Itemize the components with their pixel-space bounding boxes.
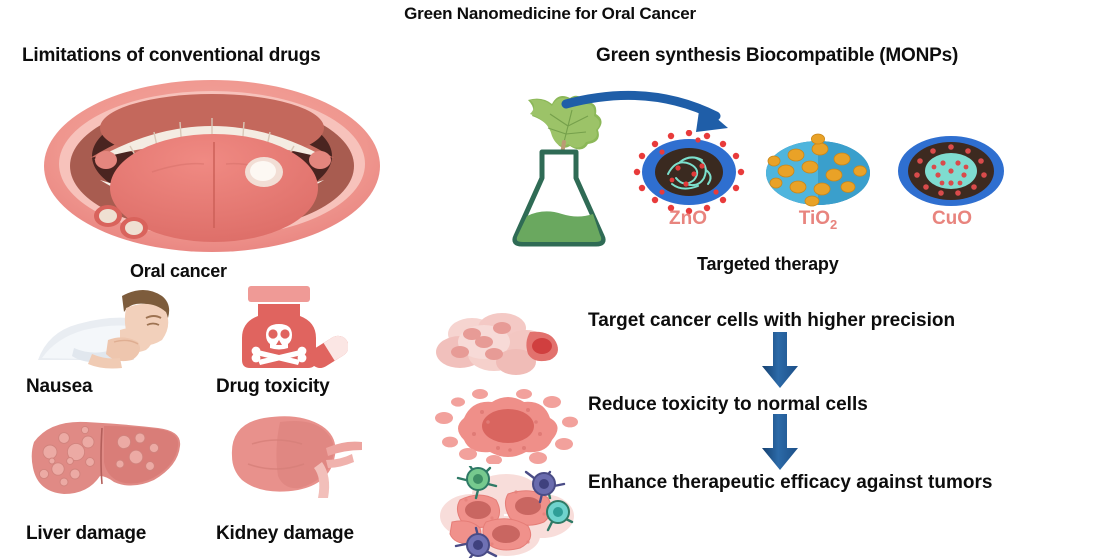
side-effect-label-liver: Liver damage [26,523,146,545]
tumor-cell-cluster-icon [430,312,580,378]
side-effect-label-toxicity: Drug toxicity [216,376,330,398]
oral-cancer-caption: Oral cancer [130,261,227,282]
right-panel-heading: Green synthesis Biocompatible (MONPs) [596,45,958,67]
down-arrow-icon [760,414,800,472]
nanoparticle-label-tio2: TiO2 [768,208,868,232]
page-title: Green Nanomedicine for Oral Cancer [0,4,1100,24]
poison-bottle-icon [228,284,348,374]
single-tumor-cell-icon [428,388,583,464]
nanoparticle-label-zno: ZnO [638,208,738,230]
side-effect-label-kidney: Kidney damage [216,523,354,545]
left-panel-heading: Limitations of conventional drugs [22,45,320,67]
down-arrow-icon [760,332,800,390]
flow-step-text-1: Reduce toxicity to normal cells [588,394,868,416]
flow-step-text-0: Target cancer cells with higher precisio… [588,310,955,332]
tio2-nanoparticle-icon [760,133,876,209]
flow-step-text-2: Enhance therapeutic efficacy against tum… [588,472,992,494]
nauseated-person-icon [34,284,184,372]
nanoparticle-label-cuo: CuO [902,208,1002,230]
graphical-abstract: Green Nanomedicine for Oral Cancer Limit… [0,0,1100,560]
cuo-nanoparticle-icon [896,133,1006,209]
zno-nanoparticle-icon [628,130,750,214]
side-effect-label-nausea: Nausea [26,376,92,398]
damaged-kidney-icon [218,410,368,508]
targeted-therapy-caption: Targeted therapy [697,254,839,275]
damaged-liver-icon [28,412,188,506]
oral-cavity-illustration [42,76,382,256]
immune-attack-cells-icon [432,466,587,558]
